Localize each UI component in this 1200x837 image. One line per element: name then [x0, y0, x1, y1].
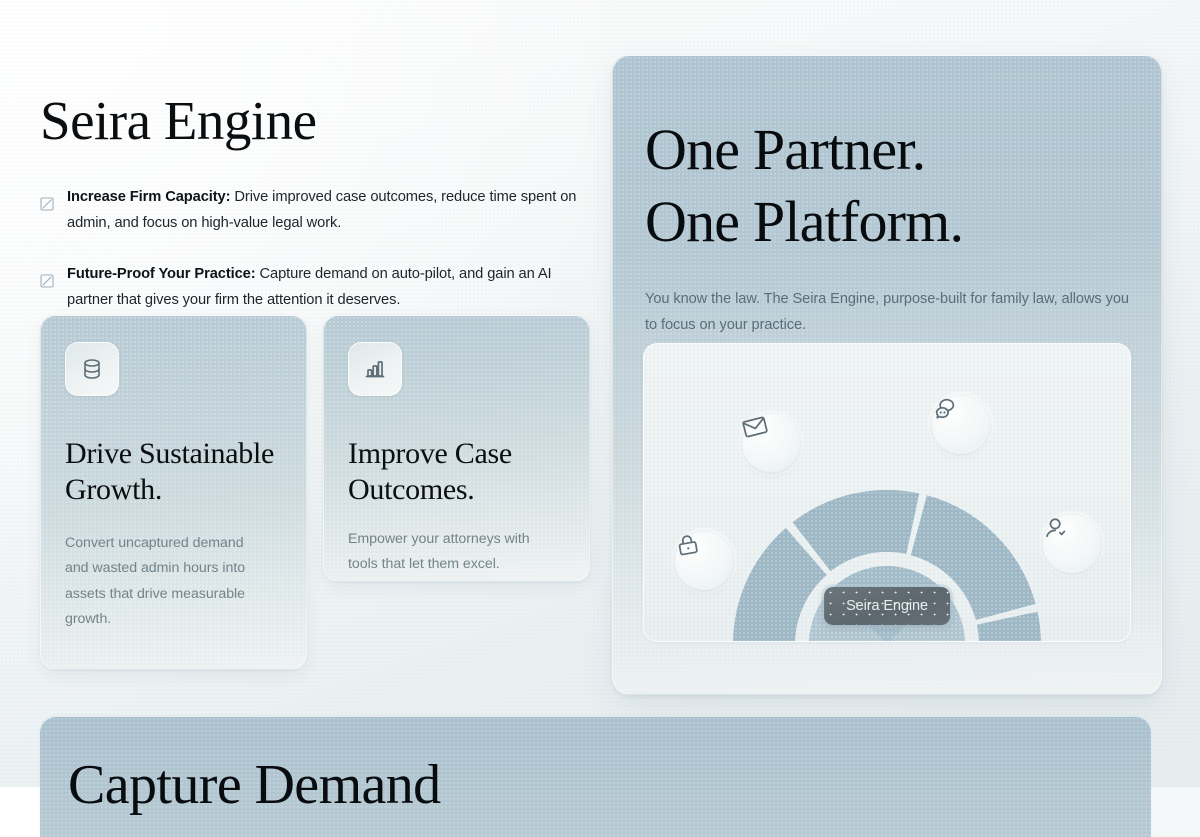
- hero-title: One Partner. One Platform.: [645, 114, 1129, 258]
- list-item-lead: Future-Proof Your Practice:: [67, 266, 256, 282]
- node-envelope[interactable]: [742, 414, 800, 472]
- slashed-square-icon: [40, 197, 54, 211]
- node-chat-bubbles[interactable]: [932, 396, 990, 454]
- feature-card-growth[interactable]: Drive Sustainable Growth. Convert uncapt…: [40, 315, 307, 670]
- slashed-square-icon: [40, 274, 54, 288]
- feature-card-title: Drive Sustainable Growth.: [65, 436, 282, 509]
- node-user-check[interactable]: [1043, 515, 1101, 573]
- bar-chart-icon: [348, 342, 402, 396]
- list-item-text: Future-Proof Your Practice: Capture dema…: [67, 261, 600, 313]
- capture-demand-title: Capture Demand: [40, 717, 1151, 817]
- hero-title-line-2: One Platform.: [645, 189, 963, 254]
- list-item: Increase Firm Capacity: Drive improved c…: [40, 184, 600, 236]
- left-column: Seira Engine Increase Firm Capacity: Dri…: [40, 92, 600, 338]
- list-item-lead: Increase Firm Capacity:: [67, 189, 230, 205]
- hero-subtitle: You know the law. The Seira Engine, purp…: [645, 286, 1129, 339]
- page-title: Seira Engine: [40, 92, 600, 150]
- database-icon: [65, 342, 119, 396]
- feature-card-title: Improve Case Outcomes.: [348, 436, 565, 509]
- feature-card-body: Convert uncaptured demand and wasted adm…: [65, 531, 270, 633]
- feature-card-body: Empower your attorneys with tools that l…: [348, 527, 553, 578]
- seira-engine-diagram: Seira Engine: [643, 343, 1131, 642]
- hero-title-line-1: One Partner.: [645, 117, 925, 182]
- benefits-list: Increase Firm Capacity: Drive improved c…: [40, 184, 600, 314]
- list-item: Future-Proof Your Practice: Capture dema…: [40, 261, 600, 313]
- diagram-center-label: Seira Engine: [824, 587, 950, 625]
- feature-card-outcomes[interactable]: Improve Case Outcomes. Empower your atto…: [323, 315, 590, 582]
- list-item-text: Increase Firm Capacity: Drive improved c…: [67, 184, 600, 236]
- capture-demand-section: Capture Demand: [40, 717, 1151, 837]
- feature-cards: Drive Sustainable Growth. Convert uncapt…: [40, 315, 590, 670]
- node-padlock[interactable]: [675, 532, 733, 590]
